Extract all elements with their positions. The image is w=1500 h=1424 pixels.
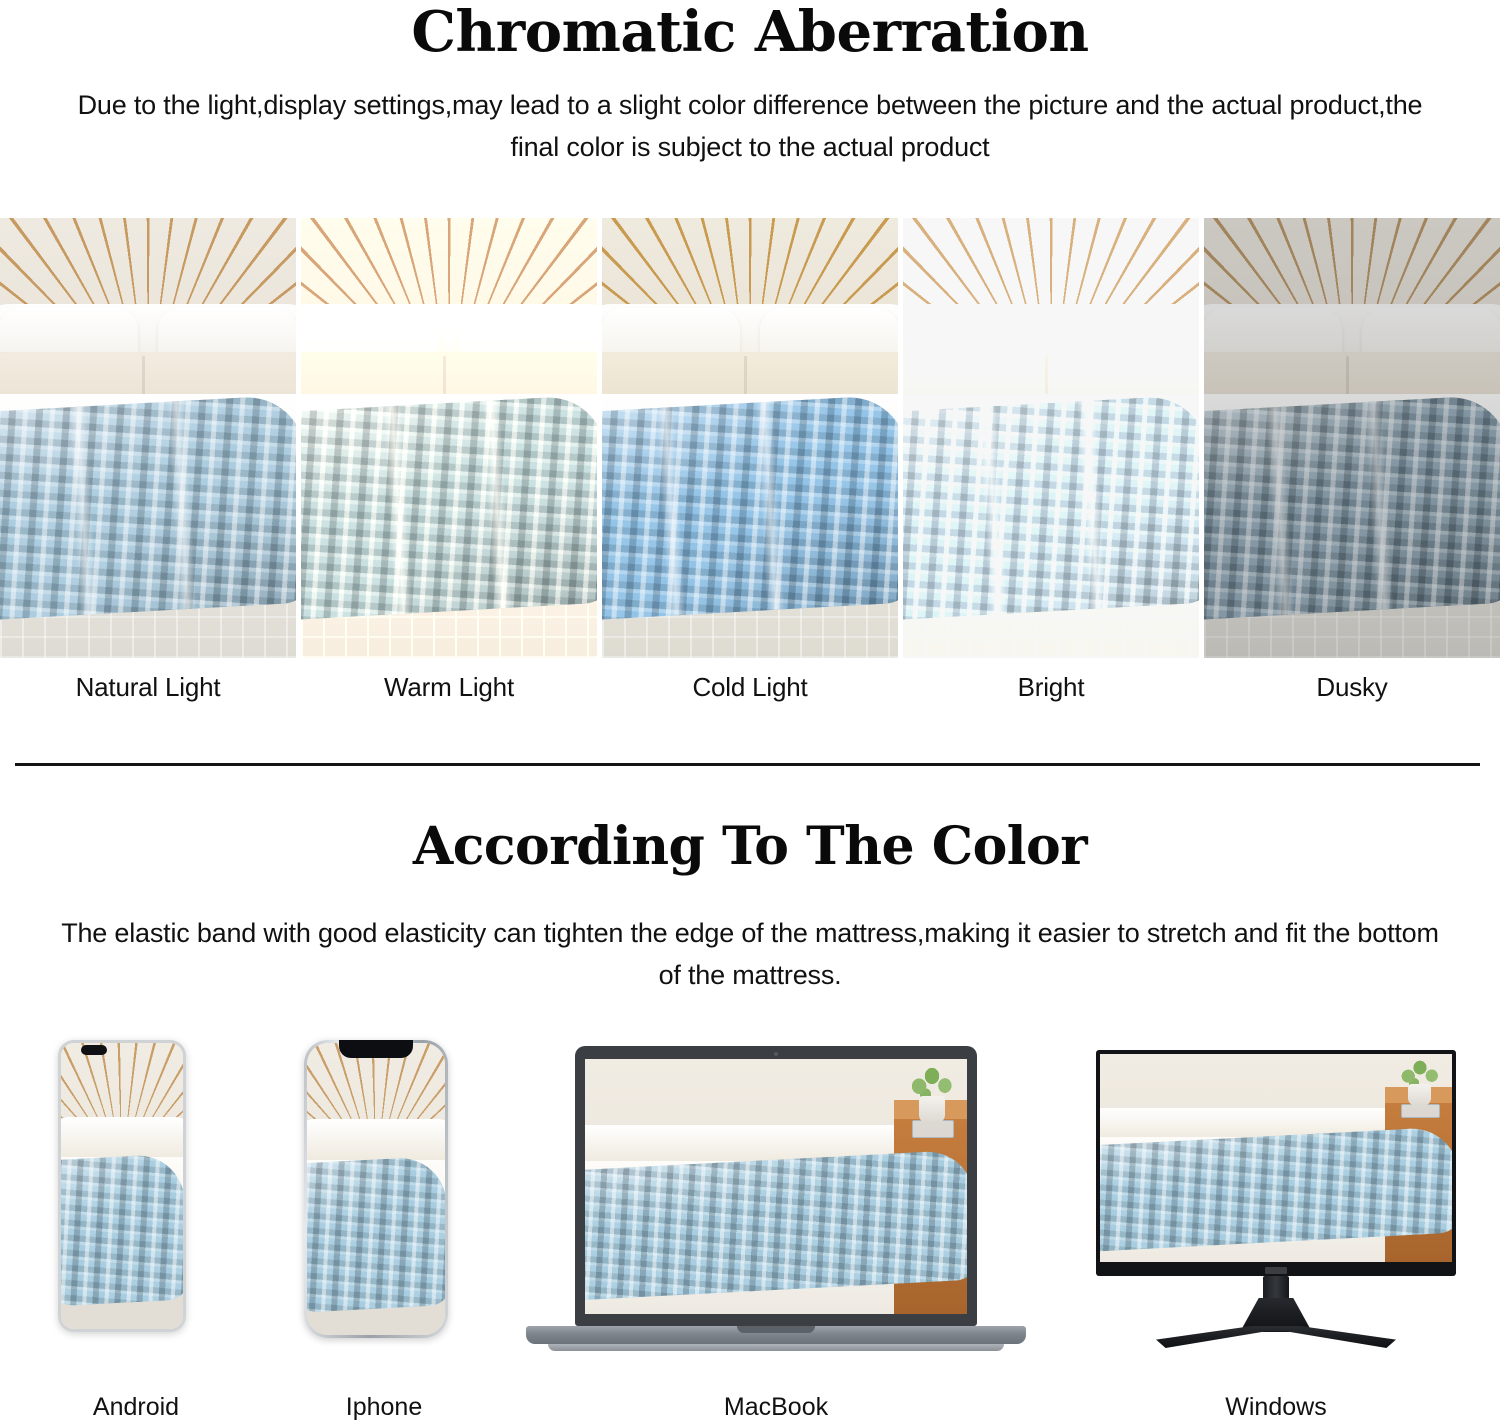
light-panel-warm-light xyxy=(301,218,597,658)
light-label-natural-light: Natural Light xyxy=(0,672,296,718)
device-mockup-windows-monitor: Windows xyxy=(1090,1040,1462,1424)
android-screen xyxy=(61,1043,183,1329)
device-mockup-macbook: MacBook xyxy=(520,1040,1032,1424)
light-label-dusky: Dusky xyxy=(1204,672,1500,718)
iphone-notch-icon xyxy=(339,1040,413,1058)
macbook-screen xyxy=(585,1059,967,1314)
macbook-foot xyxy=(548,1344,1004,1351)
blue-textured-blanket xyxy=(903,394,1199,622)
light-label-cold-light: Cold Light xyxy=(602,672,898,718)
macbook-base xyxy=(526,1326,1026,1344)
product-photo-blanket-on-bed xyxy=(61,1043,183,1329)
monitor-screen xyxy=(1100,1054,1452,1262)
product-photo-blanket-closeup xyxy=(1100,1054,1452,1262)
webcam-icon xyxy=(774,1052,778,1056)
according-subtitle: The elastic band with good elasticity ca… xyxy=(60,912,1440,996)
page-title-according-to-the-color: According To The Color xyxy=(0,818,1500,876)
android-camera-cutout-icon xyxy=(81,1045,107,1055)
section-divider xyxy=(15,763,1480,766)
product-photo-blanket-on-bed xyxy=(307,1043,445,1335)
chromatic-subtitle: Due to the light,display settings,may le… xyxy=(60,84,1440,168)
iphone-body xyxy=(304,1040,448,1338)
light-condition-labels: Natural Light Warm Light Cold Light Brig… xyxy=(0,672,1500,718)
device-label-android: Android xyxy=(48,1393,224,1422)
monitor-brand-logo xyxy=(1265,1267,1287,1274)
monitor-panel xyxy=(1096,1050,1456,1276)
light-label-warm-light: Warm Light xyxy=(301,672,597,718)
blue-textured-blanket xyxy=(0,394,296,622)
device-label-macbook: MacBook xyxy=(520,1393,1032,1422)
device-mockup-android: Android xyxy=(48,1040,224,1424)
macbook-lid xyxy=(575,1046,977,1326)
light-panel-cold-light xyxy=(602,218,898,658)
android-phone-body xyxy=(58,1040,186,1332)
chromatic-image-strip xyxy=(0,218,1500,658)
blue-textured-blanket xyxy=(301,394,597,622)
iphone-screen xyxy=(307,1043,445,1335)
light-panel-bright xyxy=(903,218,1199,658)
monitor-stand-base xyxy=(1156,1326,1396,1348)
light-panel-dusky xyxy=(1204,218,1500,658)
page-title-chromatic-aberration: Chromatic Aberration xyxy=(0,0,1500,62)
device-label-windows: Windows xyxy=(1090,1393,1462,1422)
macbook-trackpad-notch xyxy=(737,1326,815,1333)
device-mockup-iphone: Iphone xyxy=(296,1040,472,1424)
blue-textured-blanket xyxy=(602,394,898,622)
blue-textured-blanket xyxy=(1204,394,1500,622)
light-label-bright: Bright xyxy=(903,672,1199,718)
light-panel-natural-light xyxy=(0,218,296,658)
device-label-iphone: Iphone xyxy=(296,1393,472,1422)
device-mockup-row: Android Iphone xyxy=(0,1040,1500,1424)
product-photo-blanket-closeup xyxy=(585,1059,967,1314)
